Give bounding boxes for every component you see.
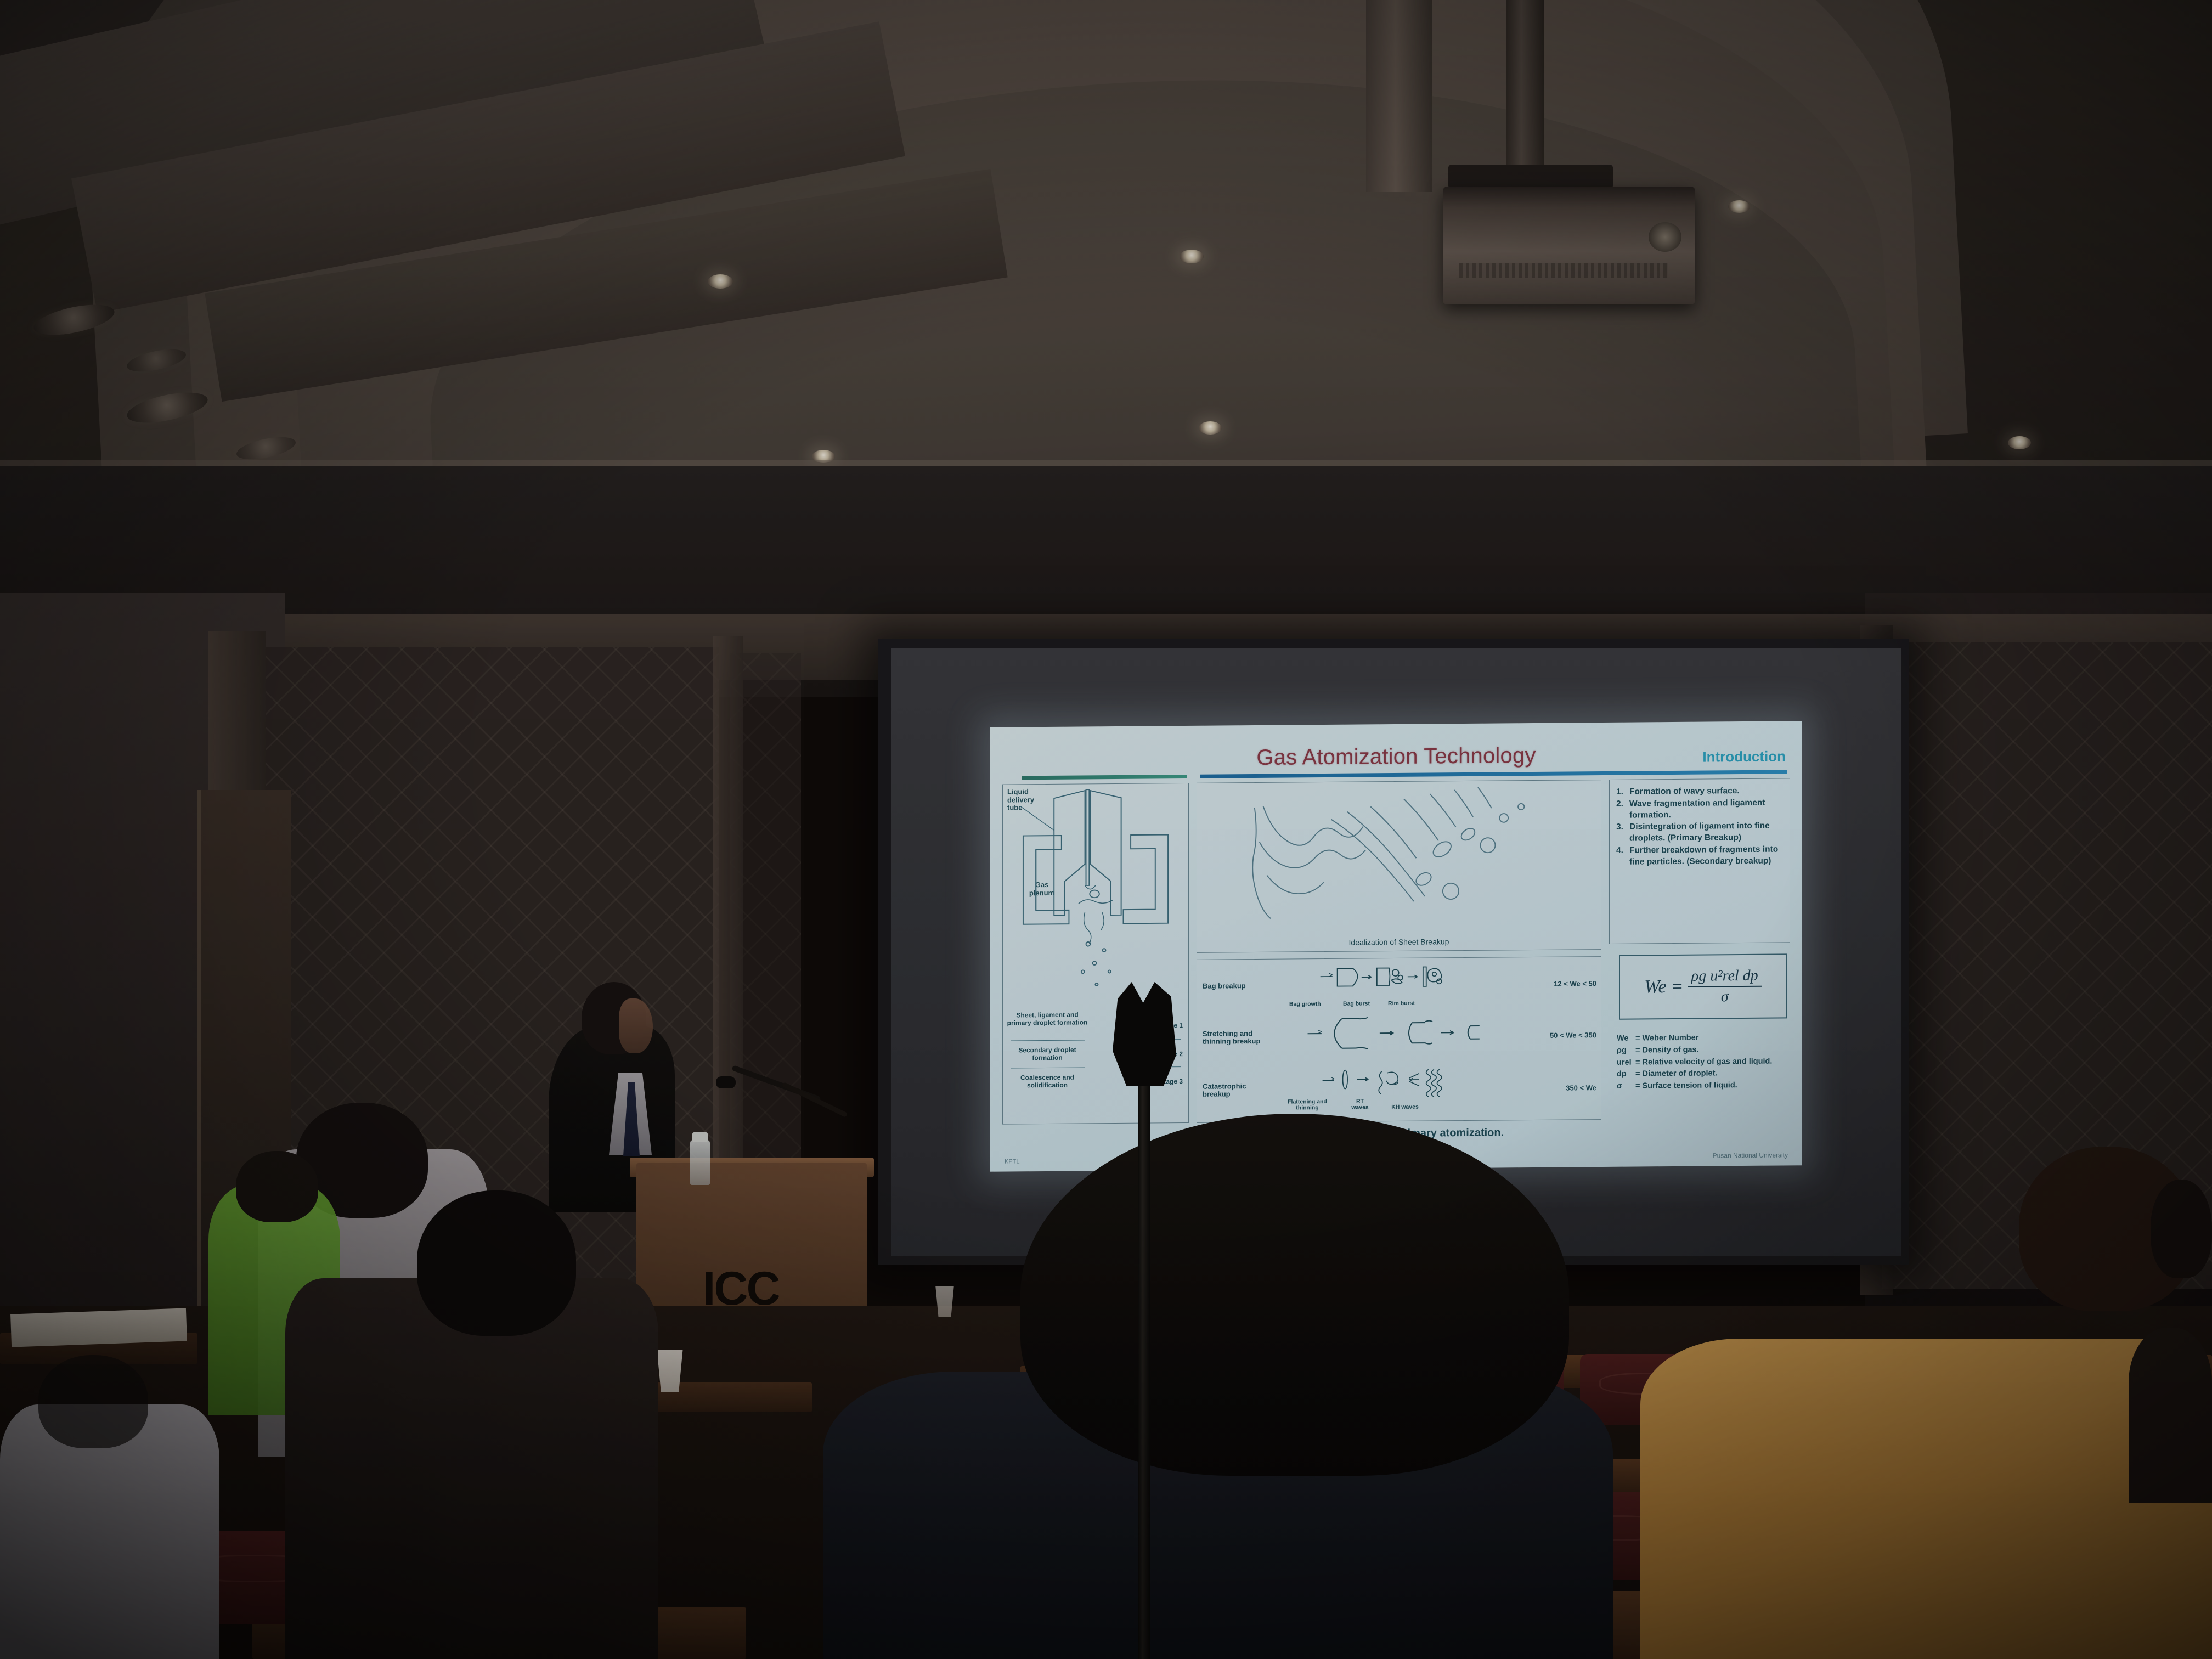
legend-symbol: We [1617,1033,1635,1045]
legend-row: urel= Relative velocity of gas and liqui… [1617,1056,1790,1069]
legend-meaning: Relative velocity of gas and liquid. [1643,1057,1773,1066]
legend-symbol: dp [1617,1069,1635,1081]
slide-footer-right: Pusan National University [1713,1151,1788,1159]
bag-sublabel-2: Rim burst [1388,1000,1415,1007]
legend-meaning: Density of gas. [1643,1045,1699,1054]
projector-mount-pole [1506,0,1544,181]
catastrophic-sublabel-0: Flattening and thinning [1287,1099,1328,1112]
formula-lhs: We [1644,977,1666,997]
slide-title-row: Gas Atomization Technology Introduction [1002,730,1790,772]
catastrophic-sublabel-1: RT waves [1347,1098,1373,1111]
mechanism-list-panel: 1. Formation of wavy surface. 2. Wave fr… [1609,778,1790,944]
ceiling-beam [1366,0,1432,192]
conference-hall-scene: Gas Atomization Technology Introduction … [0,0,2212,1659]
water-bottle [690,1140,710,1185]
sheet-breakup-panel: Idealization of Sheet Breakup [1197,780,1601,953]
sheet-breakup-caption: Idealization of Sheet Breakup [1197,936,1601,948]
bag-sublabel-1: Bag burst [1343,1000,1370,1007]
list-item-text: Wave fragmentation and ligament formatio… [1629,798,1765,820]
podium-logo-icc: ICC [680,1267,801,1311]
legend-eq: = [1635,1046,1640,1054]
list-item-text: Disintegration of ligament into fine dro… [1629,821,1770,843]
nozzle-cross-section-icon [1003,783,1188,1009]
slide-rule-green [1022,775,1187,780]
projector-vent [1459,263,1668,278]
list-item-text: Formation of wavy surface. [1629,786,1740,797]
list-item: 4. Further breakdown of fragments into f… [1615,844,1784,868]
legend-symbol: ρg [1617,1045,1635,1057]
slide-section-label: Introduction [1702,748,1786,765]
ceiling-downlight [1180,250,1204,263]
ceiling-downlight [2008,436,2031,449]
legend-eq: = [1635,1058,1640,1066]
ceiling-downlight [708,274,733,289]
projector-lens-icon [1649,222,1681,252]
legend-eq: = [1635,1070,1640,1079]
legend-row: We= Weber Number [1617,1031,1790,1045]
projector-mount-arm [1448,165,1613,189]
formula-equals: = [1672,977,1683,997]
list-item-number: 1. [1616,787,1623,798]
slide-rule-blue [1200,770,1787,778]
breakup-row-we-range: 350 < We [1539,1084,1596,1092]
legend-meaning: Diameter of droplet. [1643,1069,1718,1079]
list-item: 3. Disintegration of ligament into fine … [1615,821,1784,845]
foreground-microphone-pole [1138,1042,1150,1659]
stretching-thinning-diagram-icon [1266,1014,1539,1052]
legend-symbol: urel [1617,1057,1635,1069]
legend-meaning: Surface tension of liquid. [1643,1081,1737,1090]
slide-footer-left: KPTL [1005,1158,1020,1165]
slide-body: Liquid delivery tube Gas plenum [1002,778,1790,1124]
projected-slide: Gas Atomization Technology Introduction … [990,721,1802,1172]
stage-2-description: Secondary droplet formation [1006,1046,1088,1062]
list-item: 1. Formation of wavy surface. [1615,785,1784,798]
breakup-modes-panel: Bag breakup [1197,956,1601,1123]
water-bottle-cap [692,1132,708,1142]
bag-sublabel-0: Bag growth [1289,1001,1321,1007]
ceiling-downlight [1199,421,1222,435]
legend-row: dp= Diameter of droplet. [1617,1068,1790,1081]
formula-denominator: σ [1721,987,1729,1006]
weber-number-formula: We = ρg u²rel dp σ [1644,967,1761,1007]
legend-row: σ= Surface tension of liquid. [1617,1079,1790,1092]
stage-1-description: Sheet, ligament and primary droplet form… [1006,1011,1088,1027]
list-item: 2. Wave fragmentation and ligament forma… [1615,797,1784,821]
breakup-row-name: Bag breakup [1203,982,1266,990]
stage-3-description: Coalescence and solidification [1006,1074,1088,1090]
breakup-row-name: Catastrophic breakup [1203,1082,1266,1099]
breakup-row-catastrophic: Catastrophic breakup [1203,1066,1596,1111]
mechanism-list: 1. Formation of wavy surface. 2. Wave fr… [1615,785,1784,868]
weber-number-formula-box: We = ρg u²rel dp σ [1619,953,1787,1019]
legend-row: ρg= Density of gas. [1617,1043,1790,1057]
legend-symbol: σ [1617,1081,1635,1093]
formula-legend: We= Weber Number ρg= Density of gas. ure… [1617,1031,1790,1092]
slide-column-middle: Idealization of Sheet Breakup Bag breaku… [1197,780,1601,1123]
breakup-row-we-range: 12 < We < 50 [1539,979,1596,988]
legend-eq: = [1635,1034,1640,1043]
list-item-text: Further breakdown of fragments into fine… [1629,844,1778,866]
list-item-number: 3. [1616,822,1623,833]
breakup-row-stretching: Stretching and thinning breakup [1203,1014,1596,1059]
catastrophic-breakup-diagram-icon [1266,1067,1539,1099]
list-item-number: 4. [1616,845,1623,857]
bag-breakup-diagram-icon [1266,963,1539,996]
podium-microphone-head-icon [716,1076,736,1088]
ceiling-downlight [1728,200,1750,213]
speaker-face [619,998,653,1053]
catastrophic-sublabel-2: KH waves [1391,1104,1419,1111]
list-item-number: 2. [1616,799,1623,810]
breakup-row-we-range: 50 < We < 350 [1539,1031,1596,1040]
slide-title: Gas Atomization Technology [1256,743,1536,770]
papers-on-desk [10,1308,187,1347]
legend-eq: = [1635,1082,1640,1091]
slide-column-right: 1. Formation of wavy surface. 2. Wave fr… [1609,778,1790,1120]
formula-numerator: ρg u²rel dp [1688,967,1762,988]
sheet-breakup-illustration-icon [1197,780,1601,925]
legend-meaning: Weber Number [1643,1034,1699,1043]
breakup-row-name: Stretching and thinning breakup [1203,1030,1266,1046]
breakup-row-bag: Bag breakup [1203,962,1596,1007]
